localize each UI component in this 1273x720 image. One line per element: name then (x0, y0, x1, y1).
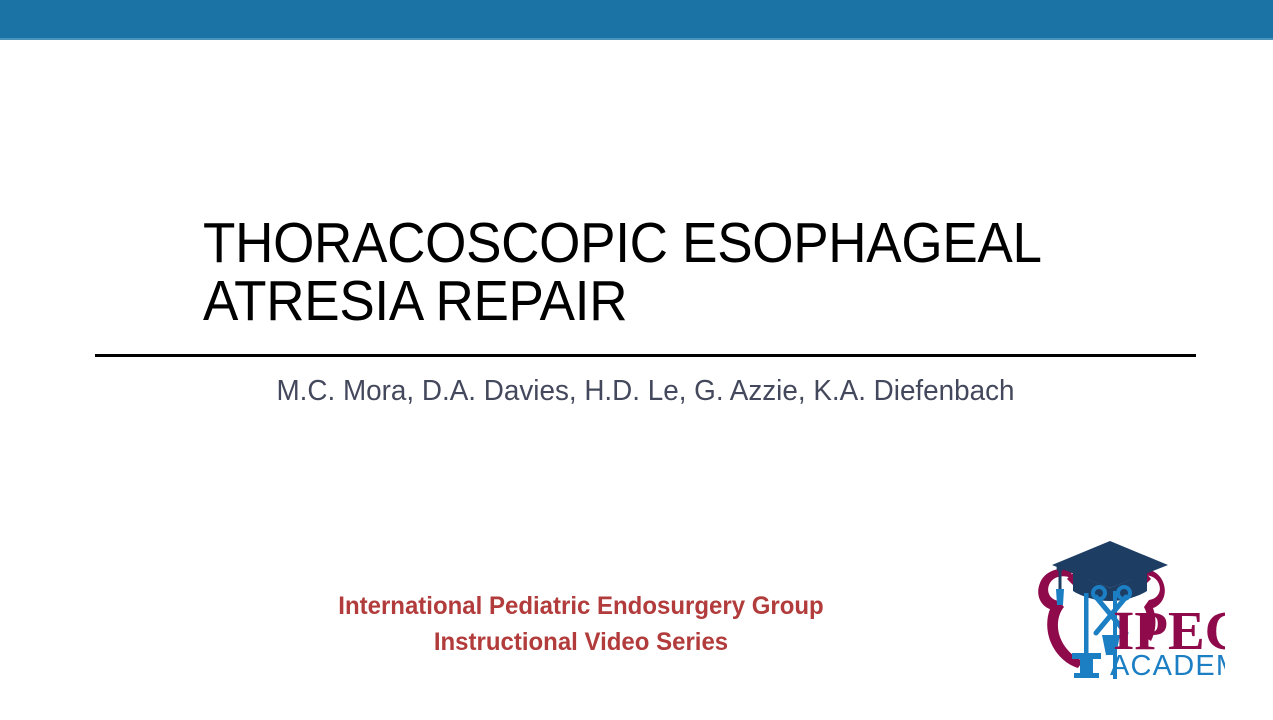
ipeg-academy-logo-icon: IPEG ACADEMY (1010, 535, 1225, 680)
page-title: THORACOSCOPIC ESOPHAGEAL ATRESIA REPAIR (203, 214, 1133, 330)
organization-name: International Pediatric Endosurgery Grou… (191, 588, 971, 624)
series-name: Instructional Video Series (191, 624, 971, 660)
authors-line: M.C. Mora, D.A. Davies, H.D. Le, G. Azzi… (117, 373, 1174, 409)
organization-block: International Pediatric Endosurgery Grou… (175, 588, 987, 660)
title-divider-rule (95, 354, 1196, 357)
top-accent-bar (0, 0, 1273, 38)
title-slide: THORACOSCOPIC ESOPHAGEAL ATRESIA REPAIR … (0, 0, 1273, 720)
logo-graduation-cap-icon (1052, 541, 1168, 601)
title-block: THORACOSCOPIC ESOPHAGEAL ATRESIA REPAIR (203, 214, 1203, 330)
top-accent-bar-edge (0, 38, 1273, 40)
logo-subtitle: ACADEMY (1110, 650, 1225, 680)
ipeg-academy-logo: IPEG ACADEMY (1010, 535, 1225, 680)
